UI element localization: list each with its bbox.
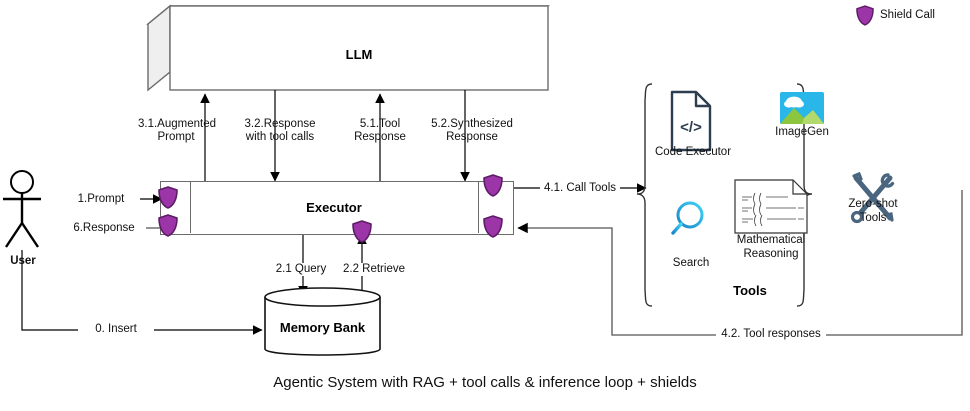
memory-bank-label: Memory Bank xyxy=(265,320,380,335)
edge-label-synthesized-response: 5.2.Synthesized Response xyxy=(424,118,520,144)
legend-shield-label: Shield Call xyxy=(880,9,960,22)
shield-icon-executor-out xyxy=(159,215,177,236)
edge-label-call-tools: 4.1. Call Tools xyxy=(540,182,620,195)
tool-label-code-executor[interactable]: Code Executor xyxy=(645,146,741,160)
edge-label-retrieve: 2.2 Retrieve xyxy=(336,263,412,276)
edge-label-response-with-tool-calls: 3.2.Response with tool calls xyxy=(232,118,328,144)
shield-icon-memory xyxy=(353,221,371,242)
tool-label-zero-shot[interactable]: Zero-shot Tools xyxy=(842,198,904,225)
user-label: User xyxy=(0,255,46,268)
shield-icon-legend xyxy=(857,6,873,25)
edge-label-tool-responses: 4.2. Tool responses xyxy=(716,328,826,341)
shield-layer xyxy=(0,0,970,411)
edge-label-augmented-prompt: 3.1.Augmented Prompt xyxy=(138,118,214,144)
shield-icon-tools-out xyxy=(484,175,502,196)
tool-label-imagegen[interactable]: ImageGen xyxy=(768,126,836,140)
edge-label-query: 2.1 Query xyxy=(268,263,334,276)
tools-group-label: Tools xyxy=(700,283,800,298)
shield-icon-tools-in xyxy=(484,216,502,237)
tool-label-search[interactable]: Search xyxy=(660,257,722,271)
diagram-caption: Agentic System with RAG + tool calls & i… xyxy=(0,374,970,391)
diagram-canvas: LLM xyxy=(0,0,970,411)
tool-label-math-reasoning[interactable]: Mathematical Reasoning xyxy=(730,234,812,261)
edge-label-response: 6.Response xyxy=(62,222,146,235)
edge-label-insert: 0. Insert xyxy=(78,323,154,336)
edge-label-prompt: 1.Prompt xyxy=(62,193,140,206)
edge-label-tool-response: 5.1.Tool Response xyxy=(344,118,416,144)
shield-icon-executor-in xyxy=(159,187,177,208)
